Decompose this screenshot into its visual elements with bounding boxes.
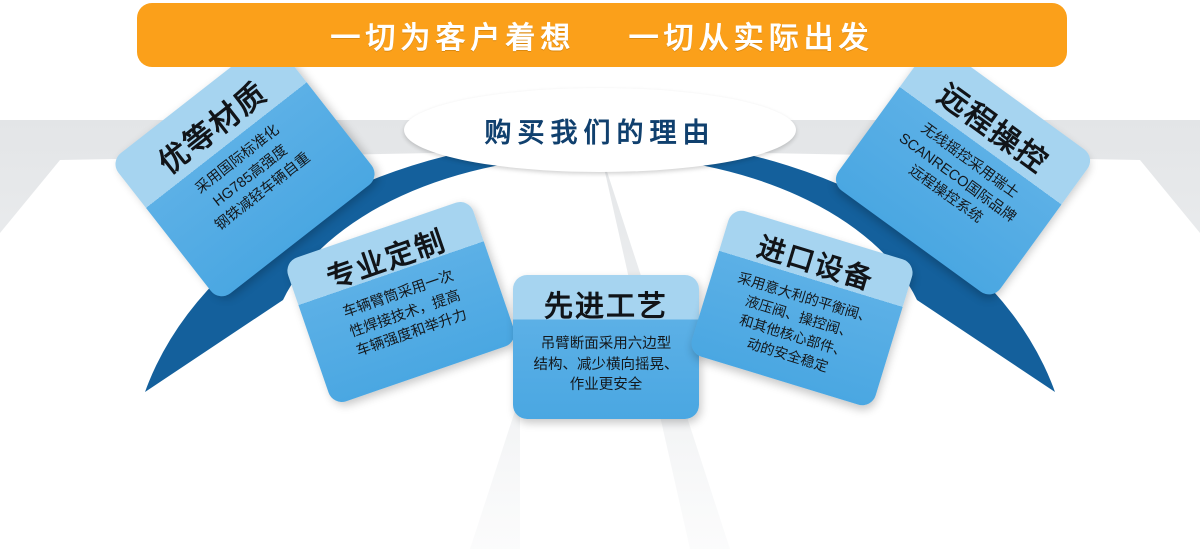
infographic-canvas: 一切为客户着想 一切从实际出发 购买我们的理由 优等材质 采用国际标准化 HG7…	[0, 0, 1200, 549]
center-title-ellipse: 购买我们的理由	[404, 88, 796, 172]
headline-banner: 一切为客户着想 一切从实际出发	[137, 3, 1067, 67]
feature-card-3-line-3: 作业更安全	[513, 375, 699, 396]
feature-card-3-line-1: 吊臂断面采用六边型	[513, 334, 699, 355]
headline-banner-text: 一切为客户着想 一切从实际出发	[330, 13, 873, 57]
feature-card-3-title: 先进工艺	[513, 283, 699, 325]
center-title-text: 购买我们的理由	[485, 111, 716, 150]
feature-card-3-body: 吊臂断面采用六边型 结构、减少横向摇晃、 作业更安全	[513, 334, 699, 396]
feature-card-3-line-2: 结构、减少横向摇晃、	[513, 355, 699, 376]
feature-card-3[interactable]: 先进工艺 吊臂断面采用六边型 结构、减少横向摇晃、 作业更安全	[513, 275, 699, 419]
